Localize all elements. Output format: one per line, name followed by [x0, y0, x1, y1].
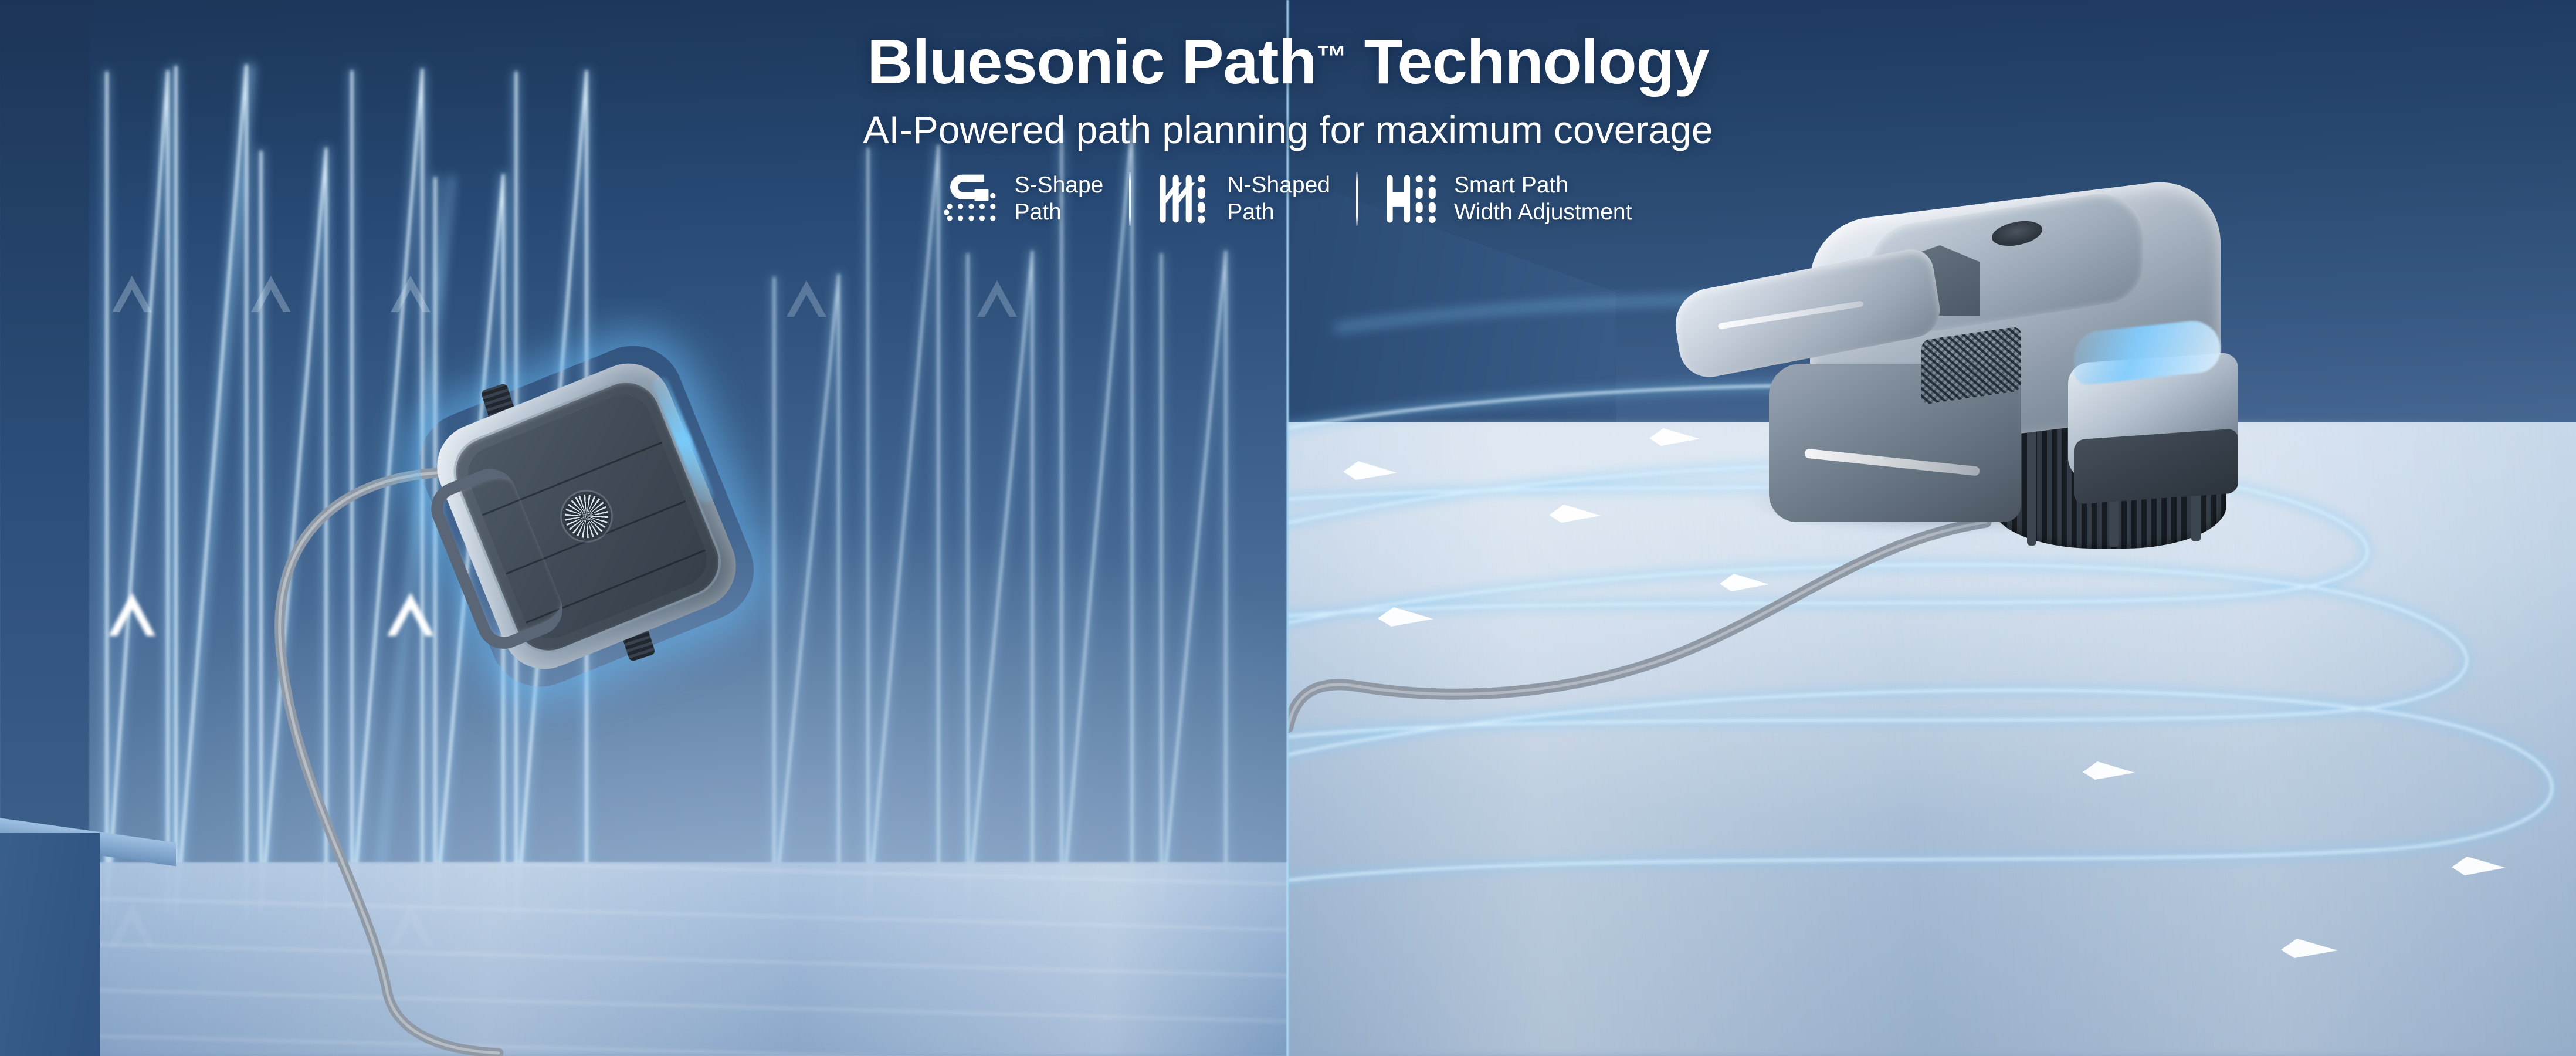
feature-smart-path-width-label: Smart Path Width Adjustment — [1454, 172, 1632, 226]
pool-robot-side-view — [1663, 182, 2238, 546]
page-title-main: Bluesonic Path — [867, 26, 1316, 97]
page-title-tail: Technology — [1347, 26, 1709, 97]
feature-n-shaped-path[interactable]: N-Shaped Path — [1131, 172, 1356, 226]
feature-s-shape-path-label: S-Shape Path — [1015, 172, 1104, 226]
banner-stage: Bluesonic Path™ Technology AI-Powered pa… — [0, 0, 2576, 1056]
page-subtitle: AI-Powered path planning for maximum cov… — [0, 107, 2576, 152]
left-plinth-face — [0, 833, 100, 1056]
feature-list: S-Shape Path — [0, 172, 2576, 226]
feature-s-shape-path[interactable]: S-Shape Path — [918, 172, 1130, 226]
smart-path-width-adjustment-icon — [1384, 172, 1438, 226]
n-shaped-path-icon — [1157, 172, 1211, 226]
robot-front-grille — [2074, 428, 2238, 505]
header-block: Bluesonic Path™ Technology AI-Powered pa… — [0, 28, 2576, 226]
s-shape-path-icon — [944, 172, 998, 226]
feature-n-shaped-path-label: N-Shaped Path — [1227, 172, 1330, 226]
page-title: Bluesonic Path™ Technology — [0, 28, 2576, 94]
left-floor-reflection — [0, 862, 1288, 1056]
feature-smart-path-width[interactable]: Smart Path Width Adjustment — [1358, 172, 1658, 226]
trademark-symbol: ™ — [1317, 40, 1347, 74]
